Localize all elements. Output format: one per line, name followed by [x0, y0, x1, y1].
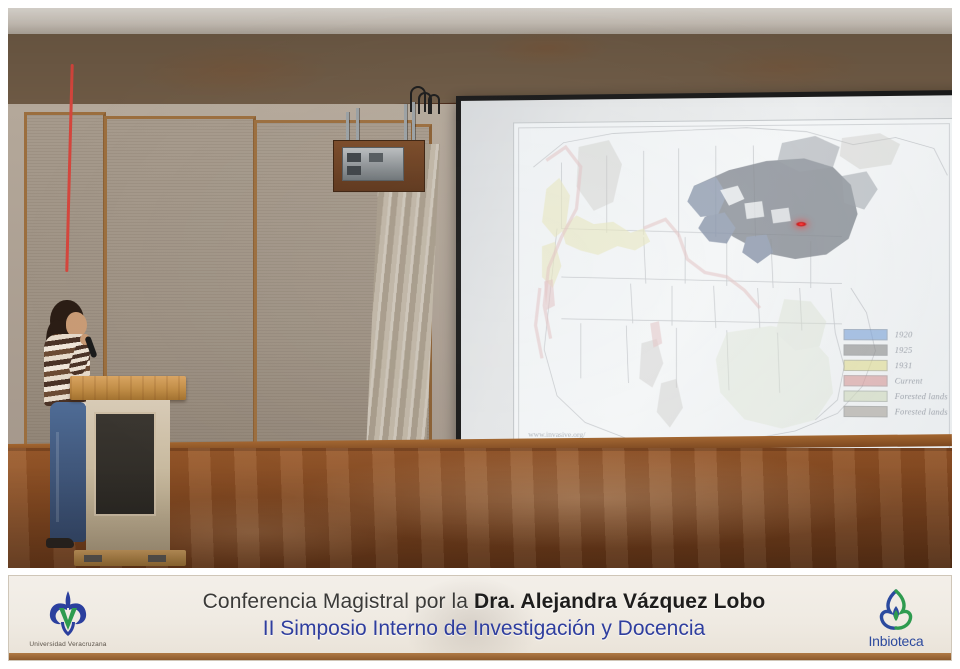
- banner-headline: Conferencia Magistral por la Dra. Alejan…: [127, 590, 841, 614]
- fleur-de-lis-icon: [42, 589, 94, 639]
- legend-item: 1931: [843, 360, 948, 372]
- legend-swatch-forested-grey: [843, 406, 887, 418]
- legend-label-1925: 1925: [895, 346, 913, 355]
- legend-swatch-forested-green: [843, 390, 887, 402]
- legend-swatch-current: [843, 375, 887, 387]
- laser-pointer-dot: [795, 222, 806, 227]
- legend-label-forested-grey: Forested lands: [895, 407, 948, 417]
- event-banner: Universidad Veracruzana Conferencia Magi…: [8, 575, 952, 661]
- conference-hall-photo: 1920 1925 1931 Current: [8, 8, 952, 568]
- legend-item: 1925: [843, 344, 948, 356]
- ceiling-electrical-box: [333, 140, 425, 192]
- legend-swatch-1925: [843, 344, 887, 355]
- legend-item: Forested lands: [843, 390, 948, 402]
- podium-top-surface: [70, 376, 186, 400]
- inbioteca-logo-caption: Inbioteca: [868, 633, 923, 649]
- projection-screen-surface: 1920 1925 1931 Current: [461, 95, 952, 479]
- podium-dark-panel: [94, 412, 156, 516]
- banner-speaker-name: Dra. Alejandra Vázquez Lobo: [474, 590, 765, 613]
- legend-swatch-1920: [843, 329, 887, 340]
- legend-swatch-1931: [843, 360, 887, 371]
- inbioteca-flame-icon: [874, 588, 918, 632]
- inbioteca-logo: Inbioteca: [841, 588, 951, 649]
- uv-logo-caption: Universidad Veracruzana: [29, 641, 106, 648]
- projected-slide: 1920 1925 1931 Current: [513, 118, 952, 458]
- projection-screen: 1920 1925 1931 Current: [456, 90, 952, 484]
- conduit-pipe: [404, 104, 407, 144]
- wooden-podium: [70, 376, 186, 566]
- legend-label-1920: 1920: [895, 330, 913, 339]
- legend-label-1931: 1931: [895, 361, 913, 370]
- electrical-box-inner: [342, 147, 404, 181]
- legend-label-current: Current: [895, 376, 923, 385]
- legend-item: Forested lands: [843, 406, 948, 418]
- universidad-veracruzana-logo: Universidad Veracruzana: [9, 589, 127, 648]
- legend-item: Current: [843, 375, 948, 387]
- conduit-pipe: [356, 108, 359, 144]
- map-legend: 1920 1925 1931 Current: [843, 329, 948, 418]
- legend-item: 1920: [843, 329, 948, 341]
- legend-label-forested-green: Forested lands: [895, 392, 948, 402]
- banner-text-block: Conferencia Magistral por la Dra. Alejan…: [127, 590, 841, 647]
- podium-base: [74, 550, 186, 566]
- hanging-cable: [428, 94, 440, 114]
- banner-headline-prefix: Conferencia Magistral por la: [203, 590, 474, 613]
- banner-subtitle: II Simposio Interno de Investigación y D…: [127, 617, 841, 641]
- photo-white-frame: 1920 1925 1931 Current: [0, 0, 960, 669]
